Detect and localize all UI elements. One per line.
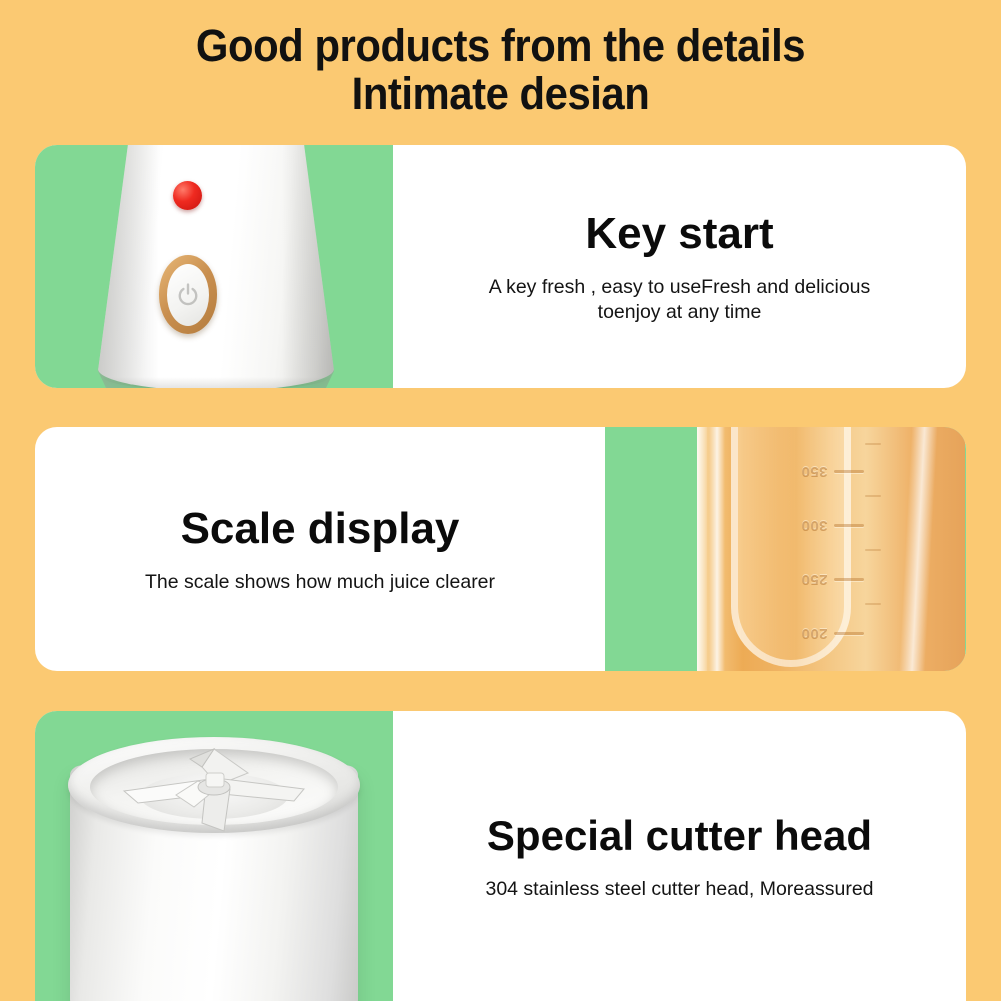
base-shadow-right xyxy=(282,145,334,388)
cutter-blade-icon xyxy=(98,733,330,845)
scale-tick-minor xyxy=(865,443,881,445)
cup-edge-left xyxy=(697,427,707,671)
feature-card-scale-display: Scale display The scale shows how much j… xyxy=(35,427,966,671)
product-photo-juice-cup: 400 350 300 250 xyxy=(605,427,966,671)
feature-text-cutter-head: Special cutter head 304 stainless steel … xyxy=(393,711,966,1001)
page-title-line-1: Good products from the details xyxy=(35,22,966,70)
scale-tick xyxy=(834,524,864,527)
power-button xyxy=(159,255,217,334)
scale-value: 200 xyxy=(801,625,828,642)
scale-mark: 250 xyxy=(801,569,919,589)
scale-tick xyxy=(834,578,864,581)
feature-card-cutter-head: Special cutter head 304 stainless steel … xyxy=(35,711,966,1001)
blender-base-housing xyxy=(98,145,334,388)
base-bottom-rim xyxy=(103,377,330,388)
feature-description: 304 stainless steel cutter head, Moreass… xyxy=(485,877,873,902)
page-title-line-2: Intimate desian xyxy=(35,70,966,118)
feature-title: Special cutter head xyxy=(487,811,872,861)
scale-mark: 400 xyxy=(801,427,919,429)
scale-tick-minor xyxy=(865,495,881,497)
page-title: Good products from the details Intimate … xyxy=(35,22,966,118)
scale-mark: 300 xyxy=(801,515,919,535)
scale-value: 250 xyxy=(801,571,828,588)
feature-title: Scale display xyxy=(181,504,460,554)
scale-tick-minor xyxy=(865,549,881,551)
base-shadow-left xyxy=(98,145,159,388)
scale-mark: 350 xyxy=(801,461,919,481)
feature-title: Key start xyxy=(585,209,773,259)
measurement-scale: 400 350 300 250 xyxy=(801,427,921,671)
scale-value: 400 xyxy=(801,427,828,428)
led-indicator-icon xyxy=(173,181,202,210)
feature-description: A key fresh , easy to useFresh and delic… xyxy=(470,275,890,325)
power-button-face xyxy=(167,264,209,326)
cup-highlight-left xyxy=(709,427,725,671)
scale-value: 300 xyxy=(801,517,828,534)
scale-tick xyxy=(834,632,864,635)
scale-value: 350 xyxy=(801,463,828,480)
scale-tick xyxy=(834,470,864,473)
product-photo-cutter-head xyxy=(35,711,393,1001)
feature-text-scale-display: Scale display The scale shows how much j… xyxy=(35,427,605,671)
feature-card-key-start: Key start A key fresh , easy to useFresh… xyxy=(35,145,966,388)
feature-text-key-start: Key start A key fresh , easy to useFresh… xyxy=(393,145,966,388)
feature-description: The scale shows how much juice clearer xyxy=(145,570,495,595)
blade-assembly-illustration xyxy=(35,711,393,1001)
power-icon xyxy=(177,283,199,307)
scale-mark: 200 xyxy=(801,623,919,643)
juice-cup-illustration: 400 350 300 250 xyxy=(605,427,966,671)
product-photo-blender-base xyxy=(35,145,393,388)
scale-tick-minor xyxy=(865,603,881,605)
